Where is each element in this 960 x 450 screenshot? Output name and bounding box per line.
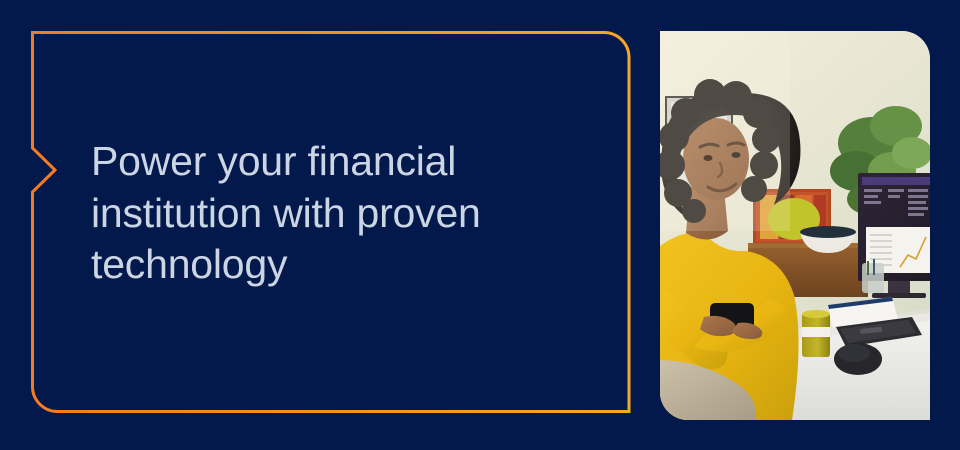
hero-photo-illustration — [660, 31, 930, 420]
pen-cup — [862, 259, 884, 293]
coffee-mug — [802, 310, 830, 357]
headline-callout: Power your financial institution with pr… — [31, 31, 631, 413]
window-light-bloom — [660, 31, 790, 231]
hero-photo — [660, 31, 930, 420]
promo-banner: Power your financial institution with pr… — [0, 0, 960, 450]
page-title: Power your financial institution with pr… — [91, 136, 591, 291]
mouse-highlight — [838, 344, 870, 362]
